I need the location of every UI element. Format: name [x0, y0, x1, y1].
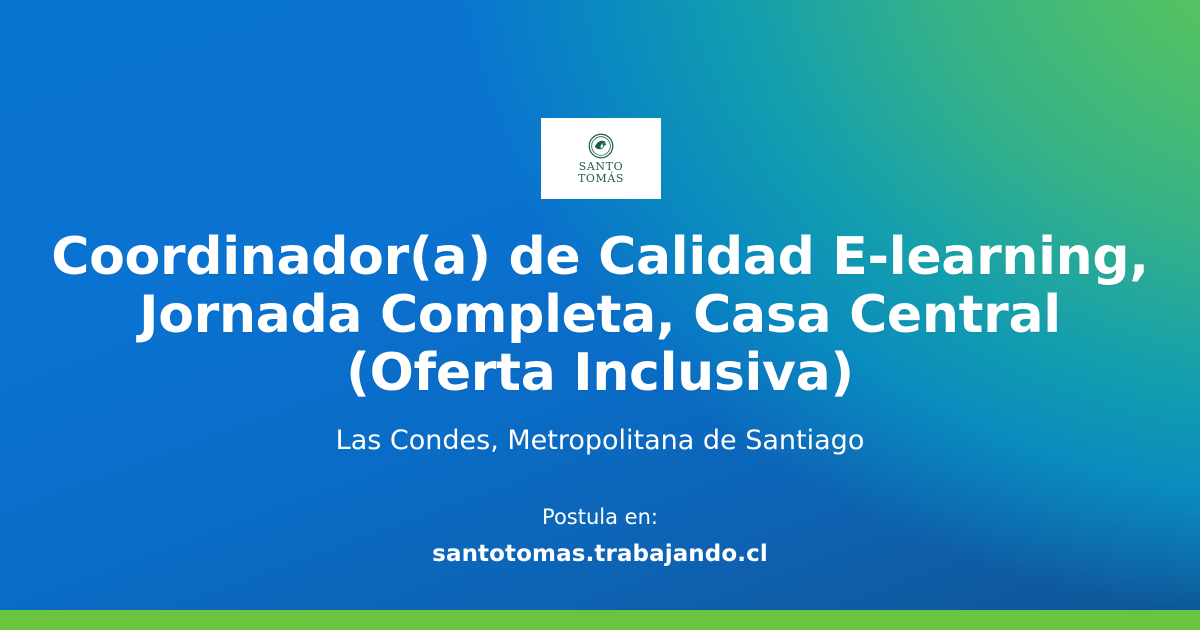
- apply-block: Postula en: santotomas.trabajando.cl: [50, 504, 1150, 569]
- company-wordmark: SANTO TOMÁS: [578, 161, 624, 184]
- card-content: Coordinador(a) de Calidad E-learning, Jo…: [0, 228, 1200, 569]
- wordmark-line-2: TOMÁS: [578, 173, 624, 185]
- wordmark-line-1: SANTO: [578, 161, 624, 173]
- apply-url[interactable]: santotomas.trabajando.cl: [50, 539, 1150, 569]
- job-location: Las Condes, Metropolitana de Santiago: [50, 424, 1150, 458]
- apply-label: Postula en:: [50, 504, 1150, 530]
- company-logo-card: SANTO TOMÁS: [541, 118, 661, 199]
- santo-tomas-crest-icon: [588, 133, 614, 159]
- bottom-accent-bar: [0, 610, 1200, 630]
- job-share-card: SANTO TOMÁS Coordinador(a) de Calidad E-…: [0, 0, 1200, 630]
- job-title: Coordinador(a) de Calidad E-learning, Jo…: [50, 228, 1150, 402]
